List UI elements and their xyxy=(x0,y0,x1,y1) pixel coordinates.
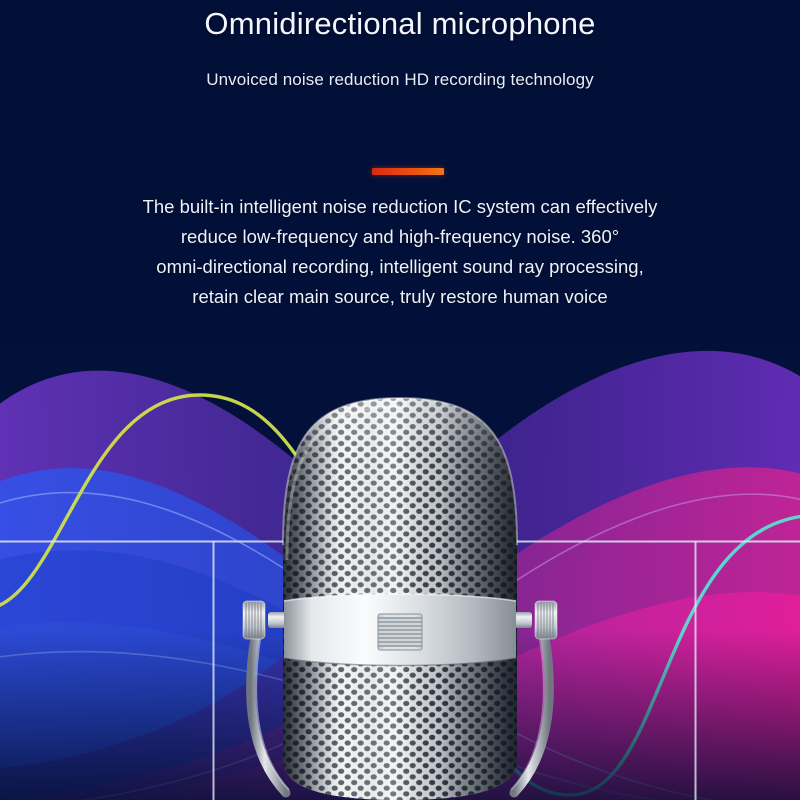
accent-divider xyxy=(372,168,444,175)
banner-header: Omnidirectional microphone Unvoiced nois… xyxy=(0,0,800,90)
condenser-microphone xyxy=(0,0,800,800)
page-subtitle: Unvoiced noise reduction HD recording te… xyxy=(0,42,800,90)
product-banner: Omnidirectional microphone Unvoiced nois… xyxy=(0,0,800,800)
microphone-grille-emblem xyxy=(378,614,422,650)
description-line: omni-directional recording, intelligent … xyxy=(0,252,800,282)
microphone-band xyxy=(284,594,516,665)
description-line: The built-in intelligent noise reduction… xyxy=(0,192,800,222)
description-line: reduce low-frequency and high-frequency … xyxy=(0,222,800,252)
feature-description: The built-in intelligent noise reduction… xyxy=(0,192,800,312)
description-line: retain clear main source, truly restore … xyxy=(0,282,800,312)
page-title: Omnidirectional microphone xyxy=(0,0,800,42)
